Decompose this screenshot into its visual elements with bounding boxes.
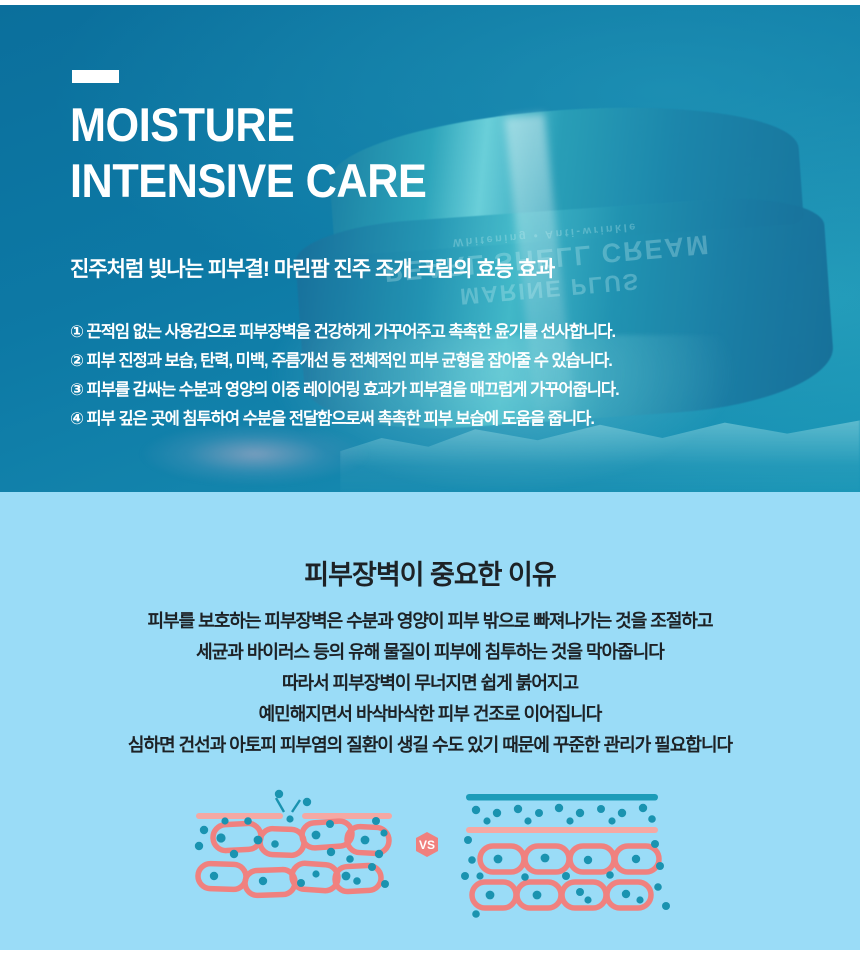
bottom-white-strip (0, 950, 860, 960)
paragraph-line: 예민해지면서 바삭바삭한 피부 건조로 이어집니다 (0, 699, 860, 730)
list-item: ② 피부 진정과 보습, 탄력, 미백, 주름개선 등 전체적인 피부 균형을 … (70, 347, 810, 376)
benefit-list: ① 끈적임 없는 사용감으로 피부장벽을 건강하게 가꾸어주고 촉촉한 윤기를 … (70, 318, 810, 434)
molecule-dots-outside (472, 804, 656, 825)
hero-section: MARINE PLUS PEARL SHELL CREAM Whitening … (0, 5, 860, 492)
paragraph-line: 세균과 바이러스 등의 유해 물질이 피부에 침투하는 것을 막아줍니다 (0, 637, 860, 668)
list-item: ④ 피부 깊은 곳에 침투하여 수분을 전달함으로써 촉촉한 피부 보습에 도움… (70, 405, 810, 434)
page-title: MOISTURE INTENSIVE CARE (70, 97, 714, 209)
molecule-dot (275, 790, 283, 798)
section-paragraph: 피부를 보호하는 피부장벽은 수분과 영양이 피부 밖으로 빠져나가는 것을 조… (0, 606, 860, 761)
hero-subtitle: 진주처럼 빛나는 피부결! 마린팜 진주 조개 크림의 효능 효과 (70, 253, 554, 283)
crack-line-left (276, 798, 284, 812)
paragraph-line: 피부를 보호하는 피부장벽은 수분과 영양이 피부 밖으로 빠져나가는 것을 조… (0, 606, 860, 637)
diagram-svg: VS (180, 788, 680, 930)
skin-cell (562, 882, 606, 908)
skin-barrier-comparison-diagram: VS (180, 788, 680, 930)
skin-cell (260, 828, 305, 856)
healthy-barrier-illustration (461, 794, 670, 918)
accent-dash-icon (72, 70, 119, 83)
paragraph-line: 따라서 피부장벽이 무너지면 쉽게 붉어지고 (0, 668, 860, 699)
molecule-dot (303, 798, 311, 806)
surface-line-left (196, 813, 283, 819)
list-item: ① 끈적임 없는 사용감으로 피부장벽을 건강하게 가꾸어주고 촉촉한 윤기를 … (70, 318, 810, 347)
skin-cell (245, 869, 296, 896)
vs-label: VS (419, 838, 435, 852)
hero-content: MOISTURE INTENSIVE CARE 진주처럼 빛나는 피부결! 마린… (0, 5, 860, 492)
surface-line-intact (466, 827, 658, 833)
crack-line-right (292, 800, 300, 812)
list-item: ③ 피부를 감싸는 수분과 영양의 이중 레이어링 효과가 피부결을 매끄럽게 … (70, 376, 810, 405)
skin-cell (198, 863, 247, 890)
section-heading: 피부장벽이 중요한 이유 (0, 553, 860, 592)
damaged-barrier-illustration (195, 790, 392, 896)
vs-badge: VS (416, 832, 438, 857)
product-detail-page: MARINE PLUS PEARL SHELL CREAM Whitening … (0, 0, 860, 960)
paragraph-line: 심하면 건선과 아토피 피부염의 질환이 생길 수도 있기 때문에 꾸준한 관리… (0, 730, 860, 761)
barrier-line-teal (466, 794, 658, 801)
